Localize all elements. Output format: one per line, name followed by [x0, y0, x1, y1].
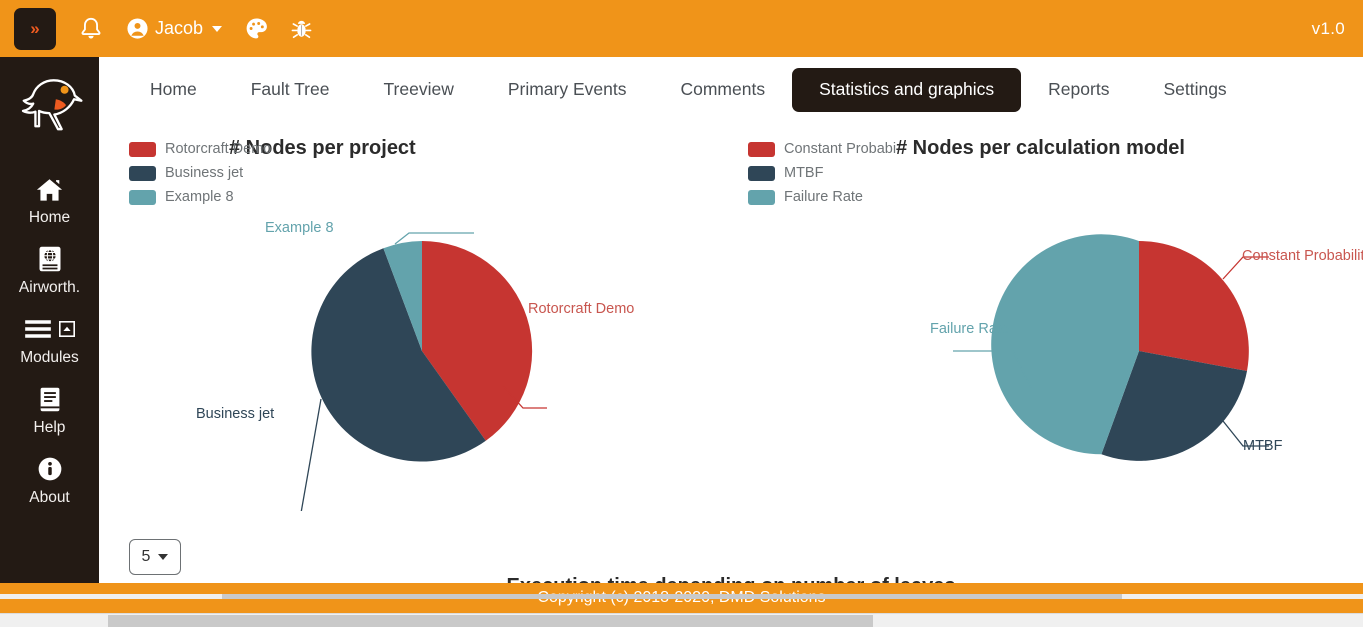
version-label: v1.0: [1312, 19, 1345, 39]
callout-label-business-jet: Business jet: [196, 406, 274, 422]
content-horizontal-scrollbar[interactable]: [0, 594, 1363, 599]
modules-hamburger-icon: [24, 314, 75, 344]
chart-title-nodes-per-calculation-model: # Nodes per calculation model: [896, 137, 1185, 160]
legend-item[interactable]: Business jet: [129, 161, 319, 185]
main-content: Home Fault Tree Treeview Primary Events …: [99, 57, 1363, 597]
pie-nodes-per-calculation-model: [731, 191, 1363, 511]
legend-item[interactable]: MTBF: [748, 161, 898, 185]
left-sidebar: Home Airworth.: [0, 57, 99, 627]
number-of-leaves-value: 5: [142, 548, 151, 566]
theme-palette-icon: [244, 16, 269, 41]
chevron-up-box-icon: [59, 321, 75, 337]
callout-label-constant-probability: Constant Probability: [1242, 248, 1363, 264]
legend-swatch-navy: [748, 166, 775, 181]
callout-label-rotorcraft-demo: Rotorcraft Demo: [528, 301, 634, 317]
tab-treeview[interactable]: Treeview: [356, 70, 480, 110]
top-bar: » Jacob: [0, 0, 1363, 57]
theme-palette-button[interactable]: [244, 16, 269, 41]
user-menu-button[interactable]: Jacob: [126, 17, 222, 40]
user-avatar-icon: [126, 17, 149, 40]
tab-reports[interactable]: Reports: [1021, 70, 1136, 110]
legend-item[interactable]: Constant Probability: [748, 137, 898, 161]
sidebar-item-label-home: Home: [29, 209, 70, 227]
callout-line-business-jet: [282, 399, 321, 511]
content-horizontal-scrollbar-thumb[interactable]: [222, 594, 1122, 599]
callout-label-mtbf: MTBF: [1243, 438, 1282, 454]
callout-label-example-8: Example 8: [265, 220, 334, 236]
chevron-down-icon: [158, 554, 168, 560]
report-bug-icon: [289, 16, 314, 42]
user-name-label: Jacob: [155, 18, 203, 39]
sidebar-item-home[interactable]: Home: [0, 165, 99, 235]
chart-nodes-per-project: # Nodes per project Rotorcraft Demo Busi…: [99, 113, 731, 513]
sidebar-item-modules[interactable]: Modules: [0, 305, 99, 375]
sidebar-item-label-airworthiness: Airworth.: [19, 279, 80, 297]
sidebar-item-label-about: About: [29, 489, 70, 507]
application-window: » Jacob: [0, 0, 1363, 627]
pie-nodes-per-project: [99, 191, 731, 511]
sidebar-collapse-button[interactable]: »: [14, 8, 56, 50]
tab-settings[interactable]: Settings: [1136, 70, 1253, 110]
tab-statistics-and-graphics[interactable]: Statistics and graphics: [792, 68, 1021, 112]
notification-bell-icon: [78, 15, 104, 43]
sidebar-item-label-help: Help: [34, 419, 66, 437]
info-circle-icon: [37, 454, 63, 484]
legend-swatch-red: [129, 142, 156, 157]
sidebar-item-about[interactable]: About: [0, 445, 99, 515]
charts-row: # Nodes per project Rotorcraft Demo Busi…: [99, 113, 1363, 513]
legend-item[interactable]: Rotorcraft Demo: [129, 137, 319, 161]
sidebar-item-airworthiness[interactable]: Airworth.: [0, 235, 99, 305]
sidebar-item-help[interactable]: Help: [0, 375, 99, 445]
callout-label-failure-rate: Failure Rate: [930, 321, 1009, 337]
chevron-down-icon: [212, 26, 222, 32]
chart-nodes-per-calculation-model: # Nodes per calculation model Constant P…: [731, 113, 1363, 513]
airworthiness-book-globe-icon: [37, 244, 63, 274]
tab-home[interactable]: Home: [123, 70, 224, 110]
module-tabs: Home Fault Tree Treeview Primary Events …: [99, 67, 1363, 113]
notification-bell-button[interactable]: [78, 15, 104, 43]
report-bug-button[interactable]: [289, 16, 314, 42]
legend-swatch-navy: [129, 166, 156, 181]
tab-comments[interactable]: Comments: [653, 70, 792, 110]
legend-label: Rotorcraft Demo: [165, 141, 271, 157]
tab-primary-events[interactable]: Primary Events: [481, 70, 654, 110]
sidebar-item-label-modules: Modules: [20, 349, 79, 367]
pie-slice-constant-probability: [1139, 241, 1249, 371]
legend-label: Business jet: [165, 165, 243, 181]
double-chevron-right-icon: »: [30, 20, 39, 37]
home-icon: [35, 174, 64, 204]
number-of-leaves-select[interactable]: 5: [129, 539, 181, 575]
help-book-icon: [38, 384, 62, 414]
window-horizontal-scrollbar[interactable]: [0, 613, 1363, 627]
legend-label: MTBF: [784, 165, 823, 181]
tab-fault-tree[interactable]: Fault Tree: [224, 70, 357, 110]
bird-logo-icon: [13, 73, 87, 143]
legend-label: Constant Probability: [784, 141, 896, 157]
window-horizontal-scrollbar-thumb[interactable]: [108, 615, 873, 627]
legend-swatch-red: [748, 142, 775, 157]
